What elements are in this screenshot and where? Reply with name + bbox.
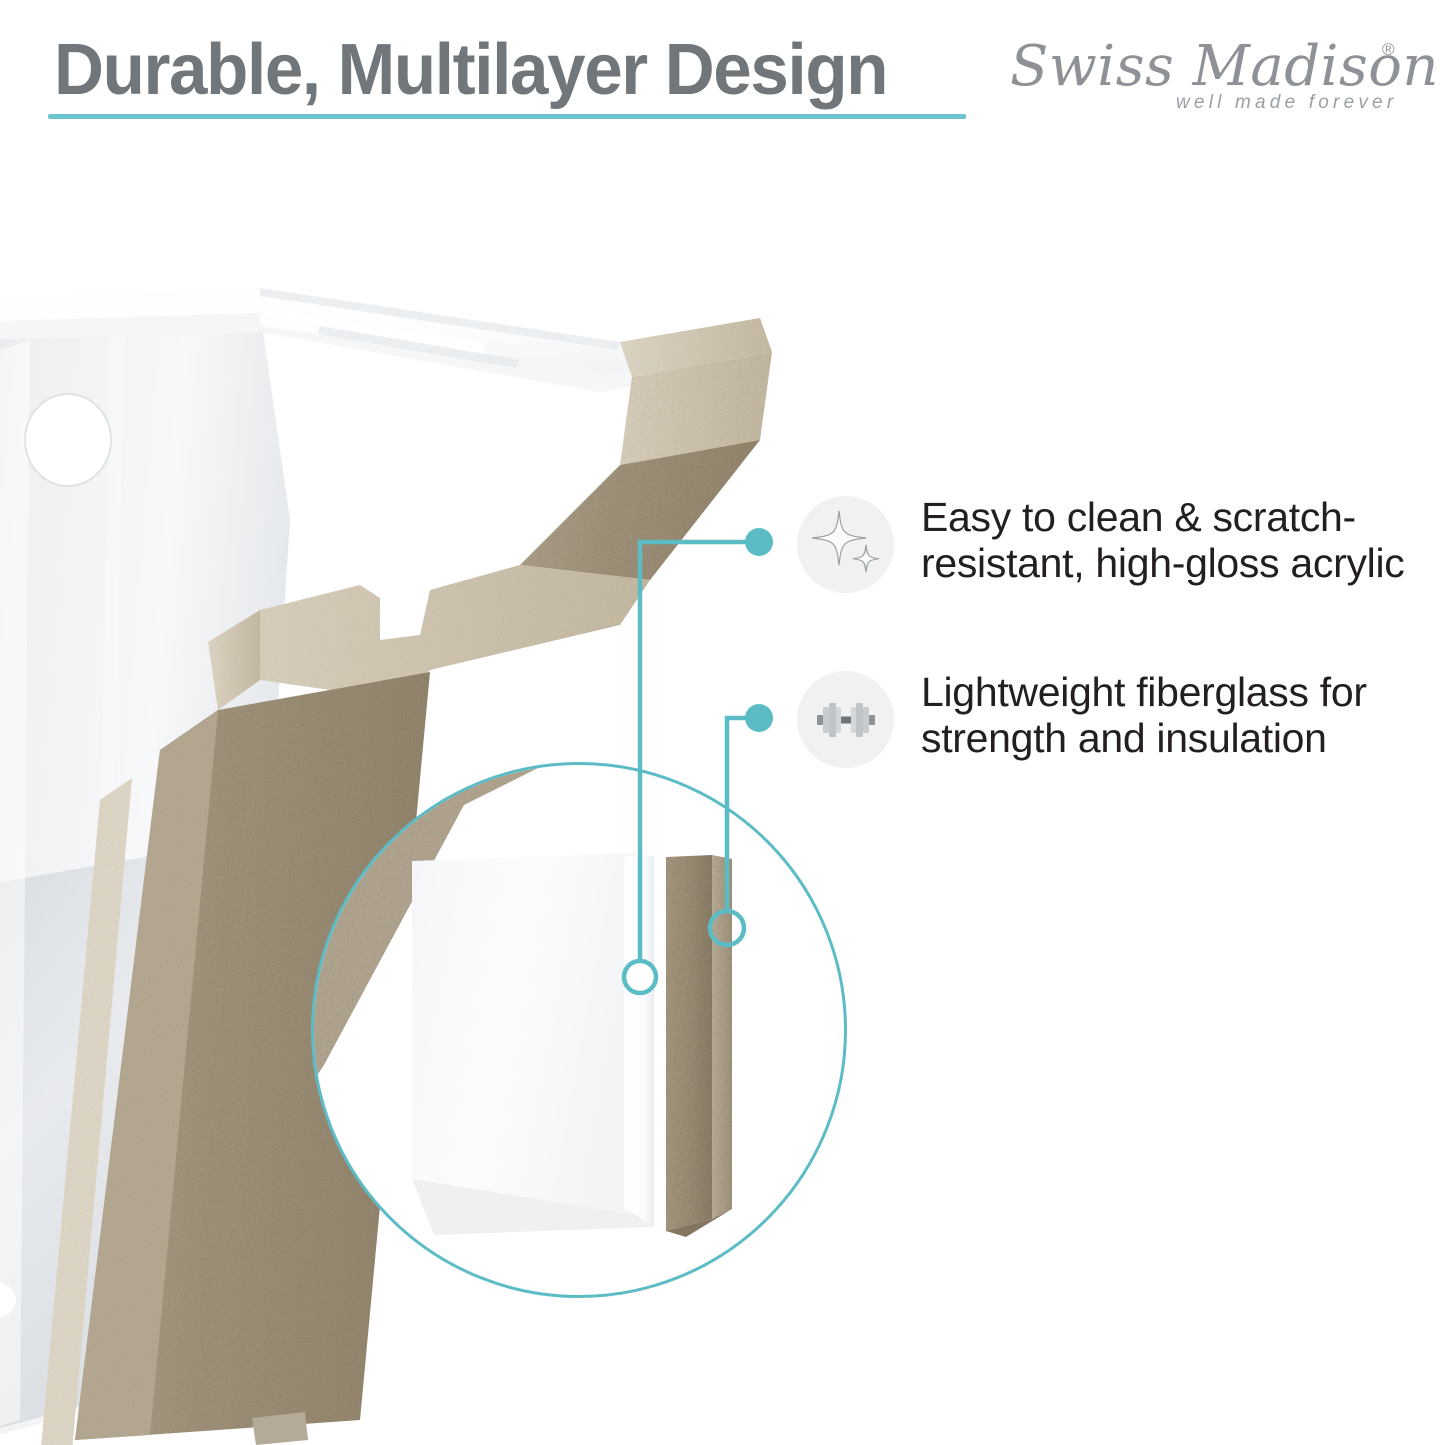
feature-callout-fiberglass: Lightweight fiberglass for strength and … xyxy=(797,669,1367,768)
layer-detail-magnifier xyxy=(311,762,847,1298)
fiberglass-layer xyxy=(666,855,732,1237)
feature-line: Easy to clean & scratch- xyxy=(921,494,1404,540)
overflow-hole xyxy=(25,394,111,486)
dumbbell-icon xyxy=(797,671,894,768)
feature-line: strength and insulation xyxy=(921,715,1367,761)
infographic-canvas: Durable, Multilayer Design Swiss Madison… xyxy=(0,0,1445,1445)
registered-trademark-icon: ® xyxy=(1382,40,1395,60)
sparkle-icon xyxy=(797,496,894,593)
title-underline-rule xyxy=(48,114,966,119)
page-title: Durable, Multilayer Design xyxy=(54,29,887,111)
feature-callout-acrylic: Easy to clean & scratch- resistant, high… xyxy=(797,494,1404,593)
brand-logo: Swiss Madison ® well made forever xyxy=(1010,34,1405,116)
feature-label-fiberglass: Lightweight fiberglass for strength and … xyxy=(921,669,1367,762)
brand-name: Swiss Madison xyxy=(1010,34,1439,99)
feature-line: Lightweight fiberglass for xyxy=(921,669,1367,715)
feature-label-acrylic: Easy to clean & scratch- resistant, high… xyxy=(921,494,1404,587)
acrylic-layer xyxy=(412,853,654,1235)
header: Durable, Multilayer Design Swiss Madison… xyxy=(0,0,1445,150)
brand-tagline: well made forever xyxy=(1176,92,1397,114)
feature-line: resistant, high-gloss acrylic xyxy=(921,540,1404,586)
